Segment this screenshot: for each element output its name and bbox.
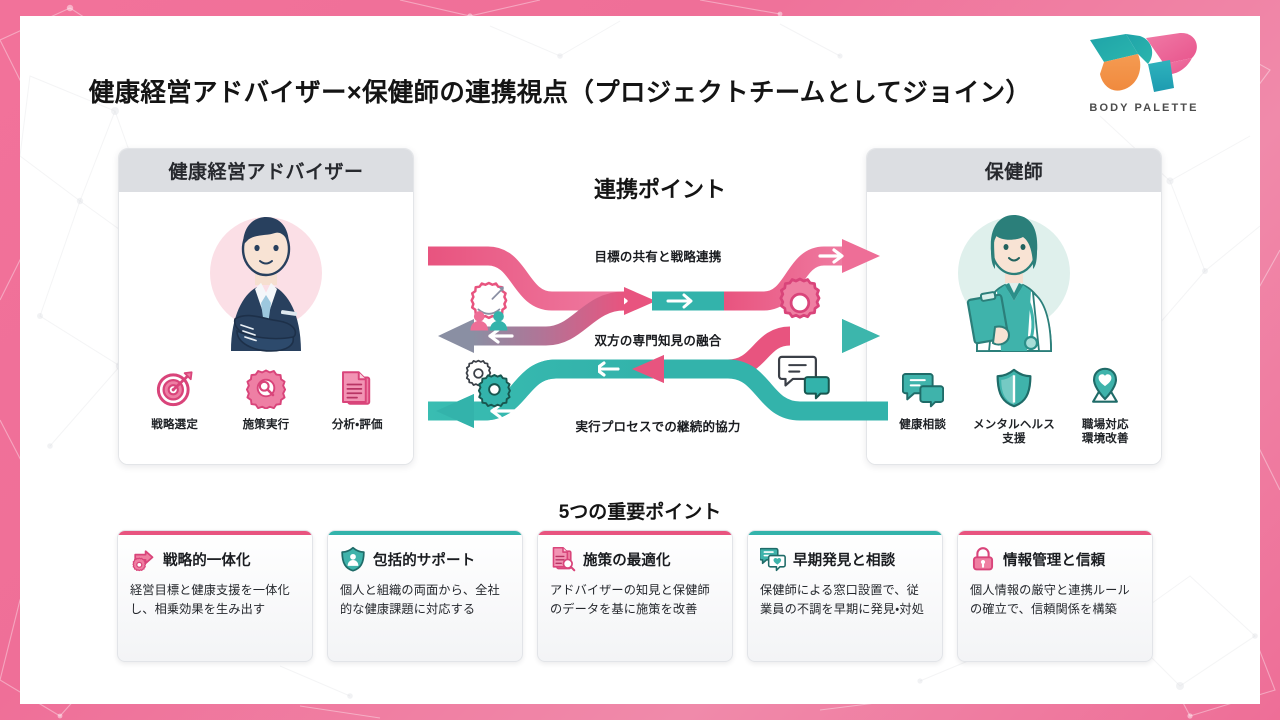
center-title: 連携ポイント (510, 172, 810, 204)
nurse-item-label: 健康相談 (879, 418, 967, 432)
gear-search-icon (245, 367, 287, 409)
documents-icon (336, 367, 378, 409)
advisor-item-analysis[interactable]: 分析・評価 (313, 364, 401, 432)
point-card-support[interactable]: 包括的サポート 個人と組織の両面から、全社的な健康課題に対応する (327, 530, 523, 662)
card-accent-bar (538, 531, 732, 535)
document-search-icon (550, 546, 576, 572)
chat-bubbles-icon (902, 368, 944, 408)
flow-label-knowledge: 双方の専門知見の融合 (528, 330, 788, 349)
shield-icon (994, 367, 1034, 409)
gear-people-icon (470, 283, 507, 331)
card-accent-bar (328, 531, 522, 535)
advisor-item-execution[interactable]: 施策実行 (222, 364, 310, 432)
panel-advisor: 健康経営アドバイザー (118, 148, 414, 465)
chat-heart-icon (760, 546, 786, 572)
point-card-trust[interactable]: 情報管理と信頼 個人情報の厳守と連携ルールの確立で、信頼関係を構築 (957, 530, 1153, 662)
location-heart-icon (1084, 367, 1126, 409)
points-card-list: 戦略的一体化 経営目標と健康支援を一体化し、相乗効果を生み出す 包括的サポート … (117, 530, 1169, 662)
card-description: 経営目標と健康支援を一体化し、相乗効果を生み出す (130, 581, 300, 619)
point-card-early-detection[interactable]: 早期発見と相談 保健師による窓口設置で、従業員の不調を早期に発見・対処 (747, 530, 943, 662)
card-title: 包括的サポート (373, 549, 475, 570)
panel-advisor-header: 健康経営アドバイザー (119, 149, 413, 192)
arrow-gear-icon (130, 546, 156, 572)
nurse-icon-row: 健康相談 メンタルヘルス 支援 (867, 364, 1161, 447)
lock-icon (970, 546, 996, 572)
panel-nurse-header: 保健師 (867, 149, 1161, 192)
advisor-item-label: 戦略選定 (131, 418, 219, 432)
card-description: 個人情報の厳守と連携ルールの確立で、信頼関係を構築 (970, 581, 1140, 619)
card-title: 情報管理と信頼 (1003, 549, 1105, 570)
card-accent-bar (118, 531, 312, 535)
flow-label-goal: 目標の共有と戦略連携 (528, 246, 788, 265)
advisor-item-label: 分析・評価 (313, 418, 401, 432)
point-card-strategy[interactable]: 戦略的一体化 経営目標と健康支援を一体化し、相乗効果を生み出す (117, 530, 313, 662)
gear-icon (781, 279, 819, 317)
point-card-optimize[interactable]: 施策の最適化 アドバイザーの知見と保健師のデータを基に施策を改善 (537, 530, 733, 662)
page-title: 健康経営アドバイザー×保健師の連携視点（プロジェクトチームとしてジョイン） (20, 72, 1100, 109)
card-accent-bar (748, 531, 942, 535)
nurse-item-consult[interactable]: 健康相談 (879, 364, 967, 432)
shield-person-icon (340, 546, 366, 572)
nurse-item-mental[interactable]: メンタルヘルス 支援 (970, 364, 1058, 447)
businessman-avatar-icon (191, 201, 341, 361)
nurse-item-label: 職場対応 環境改善 (1061, 418, 1149, 447)
card-description: 個人と組織の両面から、全社的な健康課題に対応する (340, 581, 510, 619)
card-title: 施策の最適化 (583, 549, 671, 570)
card-title: 早期発見と相談 (793, 549, 895, 570)
advisor-icon-row: 戦略選定 施策実行 (119, 364, 413, 432)
advisor-avatar (119, 192, 413, 370)
chat-bubbles-icon (779, 357, 829, 398)
nurse-item-label: メンタルヘルス 支援 (970, 418, 1058, 447)
slide-canvas: BODY PALETTE 健康経営アドバイザー×保健師の連携視点（プロジェクトチ… (20, 16, 1260, 704)
nurse-avatar (867, 192, 1161, 370)
card-description: 保健師による窓口設置で、従業員の不調を早期に発見・対処 (760, 581, 930, 619)
card-description: アドバイザーの知見と保健師のデータを基に施策を改善 (550, 581, 720, 619)
flow-label-process: 実行プロセスでの継続的協力 (528, 416, 788, 435)
nurse-avatar-icon (939, 201, 1089, 361)
card-title: 戦略的一体化 (163, 549, 251, 570)
target-arrow-icon (154, 367, 196, 409)
panel-nurse: 保健師 (866, 148, 1162, 465)
card-accent-bar (958, 531, 1152, 535)
nurse-item-workplace[interactable]: 職場対応 環境改善 (1061, 364, 1149, 447)
points-section-title: 5つの重要ポイント (20, 497, 1260, 524)
body-palette-logo-icon (1084, 28, 1204, 100)
advisor-item-strategy[interactable]: 戦略選定 (131, 364, 219, 432)
advisor-item-label: 施策実行 (222, 418, 310, 432)
